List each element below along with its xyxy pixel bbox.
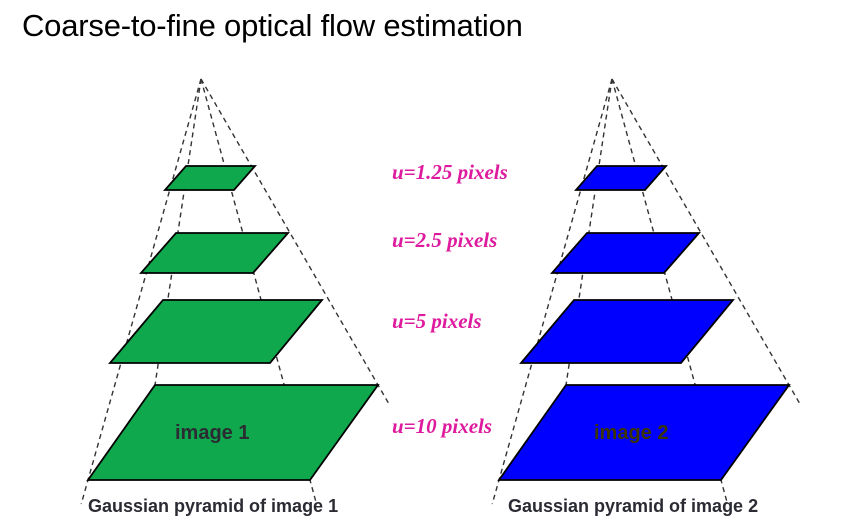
slide-canvas: Coarse-to-fine optical flow estimation u… (0, 0, 855, 532)
flow-label-level-1: u=2.5 pixels (392, 228, 497, 253)
pyramid-image-1-slab-level-2 (110, 300, 322, 363)
flow-label-level-0: u=1.25 pixels (392, 160, 508, 185)
pyramid-image-1-slab-level-1 (141, 233, 288, 273)
slab-label-image-2: image 2 (594, 422, 668, 445)
flow-label-level-2: u=5 pixels (392, 309, 482, 334)
pyramid-caption-image-2: Gaussian pyramid of image 2 (508, 496, 758, 517)
pyramid-image-2-slab-level-0 (576, 166, 666, 190)
flow-label-level-3: u=10 pixels (392, 414, 492, 439)
pyramid-image-2-slab-level-1 (552, 233, 699, 273)
slab-label-image-1: image 1 (175, 422, 249, 445)
pyramid-image-2-slab-level-2 (521, 300, 733, 363)
pyramid-caption-image-1: Gaussian pyramid of image 1 (88, 496, 338, 517)
pyramid-image-1-slab-level-0 (165, 166, 255, 190)
pyramid-figure (0, 0, 855, 532)
